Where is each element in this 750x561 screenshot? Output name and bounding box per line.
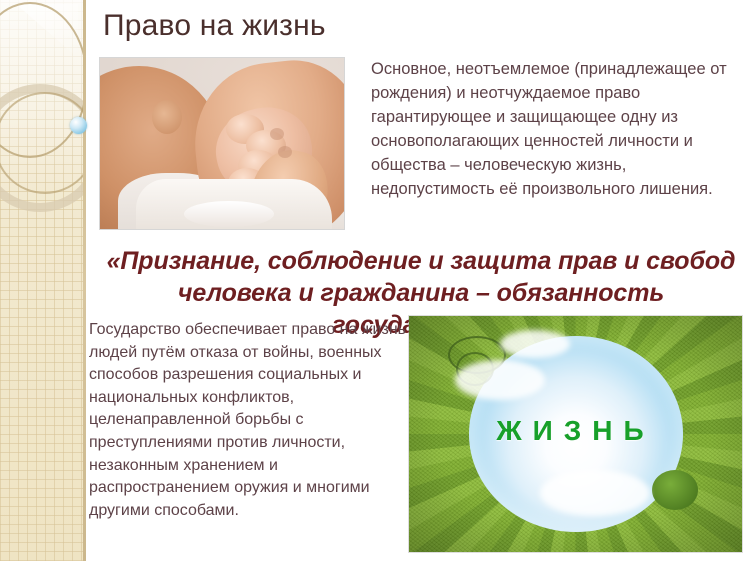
cloud (540, 470, 650, 516)
decor-ring-small (0, 92, 86, 194)
blue-sphere-accent-icon (70, 117, 87, 134)
baby-ear (152, 100, 182, 134)
decorative-left-band (0, 0, 86, 561)
quote-line-1: «Признание, соблюдение и защита прав и с… (96, 245, 746, 277)
baby-photo (99, 57, 345, 230)
fingernail (270, 128, 284, 140)
tree-icon (652, 470, 698, 510)
blanket-fold (184, 201, 274, 227)
presentation-slide: Право на жизнь Основное, неотъемлемое (п… (0, 0, 750, 561)
cloud (455, 360, 545, 400)
state-duty-paragraph: Государство обеспечивает право на жизнь … (89, 319, 409, 522)
page-title: Право на жизнь (103, 9, 326, 43)
band-right-edge (83, 0, 86, 561)
fingernail (278, 146, 292, 158)
cloud (500, 330, 570, 358)
definition-paragraph: Основное, неотъемлемое (принадлежащее от… (371, 57, 749, 201)
